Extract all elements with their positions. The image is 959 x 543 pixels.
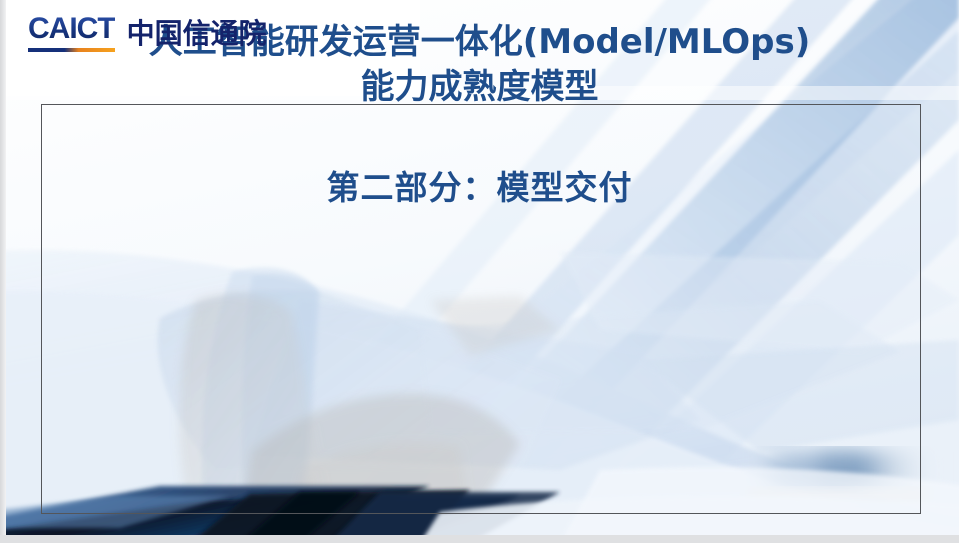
caict-logo: CAICT 中国信通院 (28, 14, 267, 52)
page-subtitle: 第二部分：模型交付 (0, 110, 959, 208)
slide-canvas: CAICT 中国信通院 人工智能研发运营一体化(Model/MLOps) 能力成… (0, 0, 959, 543)
caict-logo-text: CAICT (28, 14, 115, 46)
caict-logo-underline (28, 48, 115, 52)
caict-logo-text-cn: 中国信通院 (127, 20, 267, 52)
page-title-line-2: 能力成熟度模型 (0, 65, 959, 110)
bottom-edge-rail (0, 535, 959, 543)
caict-logomark: CAICT (28, 14, 115, 52)
